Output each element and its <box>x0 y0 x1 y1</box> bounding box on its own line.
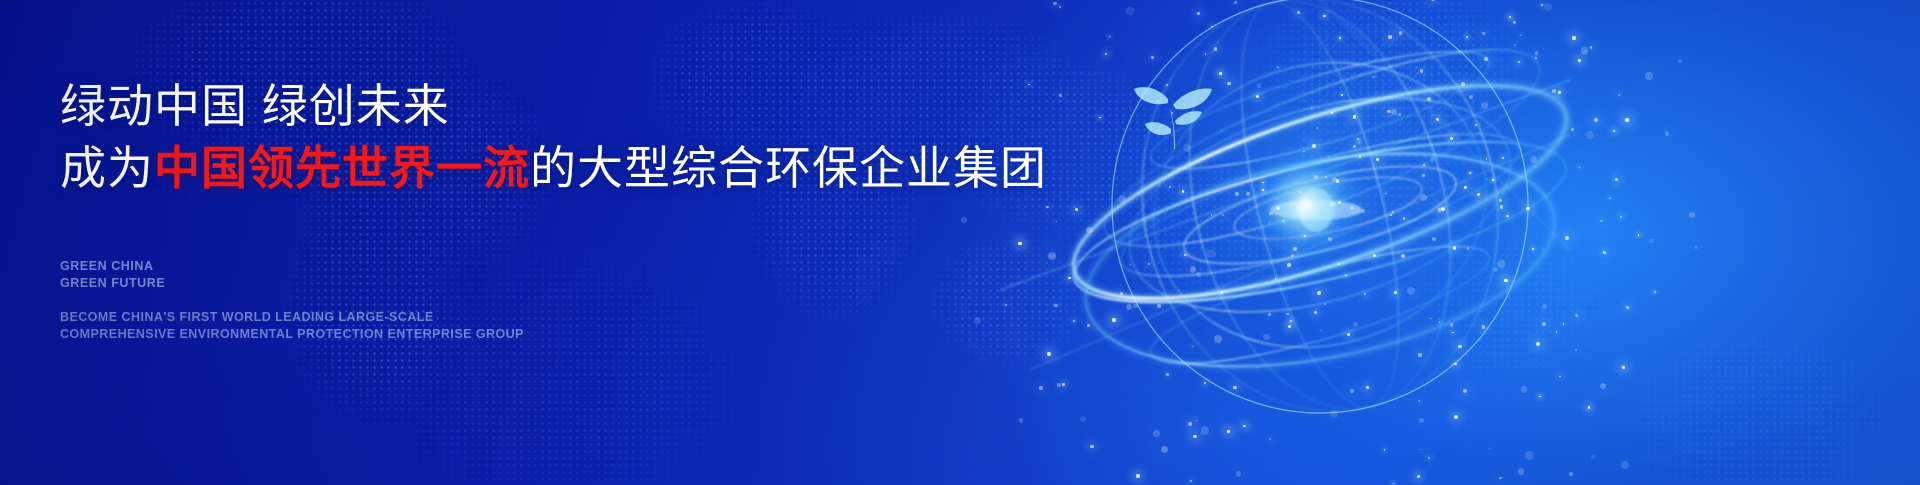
particle <box>1521 386 1528 393</box>
particle <box>1407 287 1415 295</box>
particle <box>1621 461 1629 469</box>
particle <box>1391 109 1397 115</box>
particle <box>1419 418 1424 423</box>
particle <box>1497 260 1506 269</box>
particle <box>1332 177 1337 182</box>
particle <box>1542 304 1547 309</box>
particle <box>1086 227 1093 234</box>
particle <box>1600 383 1606 389</box>
particle <box>1525 451 1534 460</box>
headline-line-2-suffix: 的大型综合环保企业集团 <box>530 142 1047 194</box>
hero-banner: 绿动中国 绿创未来 成为中国领先世界一流的大型综合环保企业集团 GREEN CH… <box>0 0 1920 485</box>
particle <box>1153 430 1160 437</box>
headline-line-2-highlight: 中国领先世界一流 <box>154 142 530 194</box>
particle <box>1201 426 1210 435</box>
particle <box>1207 249 1216 258</box>
headline-line-2-prefix: 成为 <box>60 142 154 194</box>
particle <box>1126 304 1132 310</box>
particle <box>1048 252 1056 260</box>
particle <box>1420 194 1427 201</box>
particle <box>1330 410 1338 418</box>
particle <box>1678 59 1682 63</box>
particle <box>1530 156 1537 163</box>
particle <box>1544 3 1552 11</box>
headline-block: 绿动中国 绿创未来 成为中国领先世界一流的大型综合环保企业集团 <box>60 78 1060 198</box>
particle <box>1353 322 1358 327</box>
particle <box>1214 335 1222 343</box>
particle <box>1196 272 1201 277</box>
particle <box>1689 212 1695 218</box>
particle <box>1569 472 1573 476</box>
particle <box>1118 195 1126 203</box>
particle <box>1133 304 1137 308</box>
particle <box>1190 266 1196 272</box>
particle <box>1665 131 1670 136</box>
subtitle-english-line-1: BECOME CHINA'S FIRST WORLD LEADING LARGE… <box>60 309 524 326</box>
particle <box>1481 102 1488 109</box>
particle <box>1694 245 1698 249</box>
slogan-english-line-2: GREEN FUTURE <box>60 275 165 292</box>
particle <box>1263 334 1270 341</box>
particle <box>1430 157 1435 162</box>
particle <box>1645 72 1653 80</box>
slogan-english-line-1: GREEN CHINA <box>60 258 165 275</box>
particle <box>1330 201 1336 207</box>
subtitle-english-block: BECOME CHINA'S FIRST WORLD LEADING LARGE… <box>60 309 524 342</box>
headline-line-2: 成为中国领先世界一流的大型综合环保企业集团 <box>60 140 1060 198</box>
particle <box>1586 131 1594 139</box>
particle <box>1591 455 1595 459</box>
subtitle-english-line-2: COMPREHENSIVE ENVIRONMENTAL PROTECTION E… <box>60 326 524 343</box>
particle <box>1161 446 1168 453</box>
particle <box>1080 416 1086 422</box>
particle <box>1518 468 1525 475</box>
particle <box>1126 7 1135 16</box>
headline-line-1: 绿动中国 绿创未来 <box>60 78 1060 136</box>
slogan-english-block: GREEN CHINA GREEN FUTURE <box>60 258 165 291</box>
particle <box>1493 267 1499 273</box>
particle <box>1019 418 1023 422</box>
particle <box>1649 239 1654 244</box>
particle <box>1057 383 1061 387</box>
particle-field-glow <box>0 0 1920 485</box>
particle <box>1581 47 1589 55</box>
particle <box>974 317 981 324</box>
particle <box>961 217 967 223</box>
particle <box>1257 83 1261 87</box>
particle <box>1183 144 1191 152</box>
particle <box>1236 471 1242 477</box>
